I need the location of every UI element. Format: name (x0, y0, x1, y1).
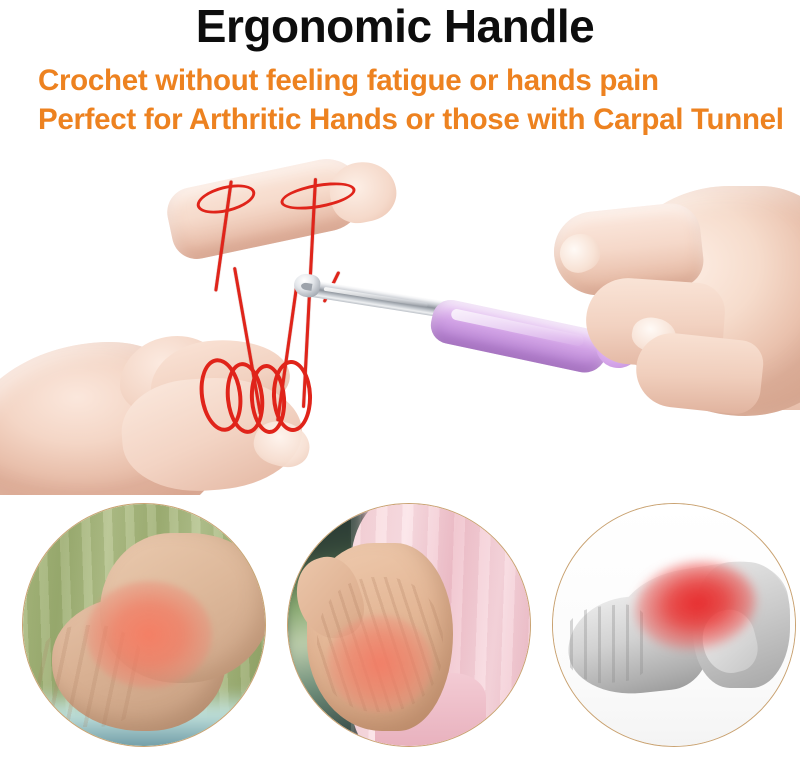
benefit-photo-1-image (23, 504, 265, 746)
product-marketing-image: Ergonomic Handle Crochet without feeling… (0, 0, 800, 766)
hero-product-photo (0, 150, 800, 495)
right-ring-finger (632, 330, 765, 417)
ergonomic-handle (427, 296, 610, 376)
subtitle-line-2: Perfect for Arthritic Hands or those wit… (38, 100, 798, 139)
pain-glow (327, 615, 433, 712)
benefit-photo-row (0, 503, 800, 753)
benefit-photo-2 (287, 503, 531, 747)
subtitle-line-1: Crochet without feeling fatigue or hands… (38, 61, 798, 100)
benefit-photo-3-image (553, 504, 795, 746)
benefit-photo-3 (552, 503, 796, 747)
page-title: Ergonomic Handle (0, 2, 790, 52)
pain-glow (86, 581, 212, 687)
benefit-photo-1 (22, 503, 266, 747)
hook-metal-shaft (299, 278, 450, 318)
benefit-photo-2-image (288, 504, 530, 746)
subtitle-block: Crochet without feeling fatigue or hands… (38, 61, 798, 139)
